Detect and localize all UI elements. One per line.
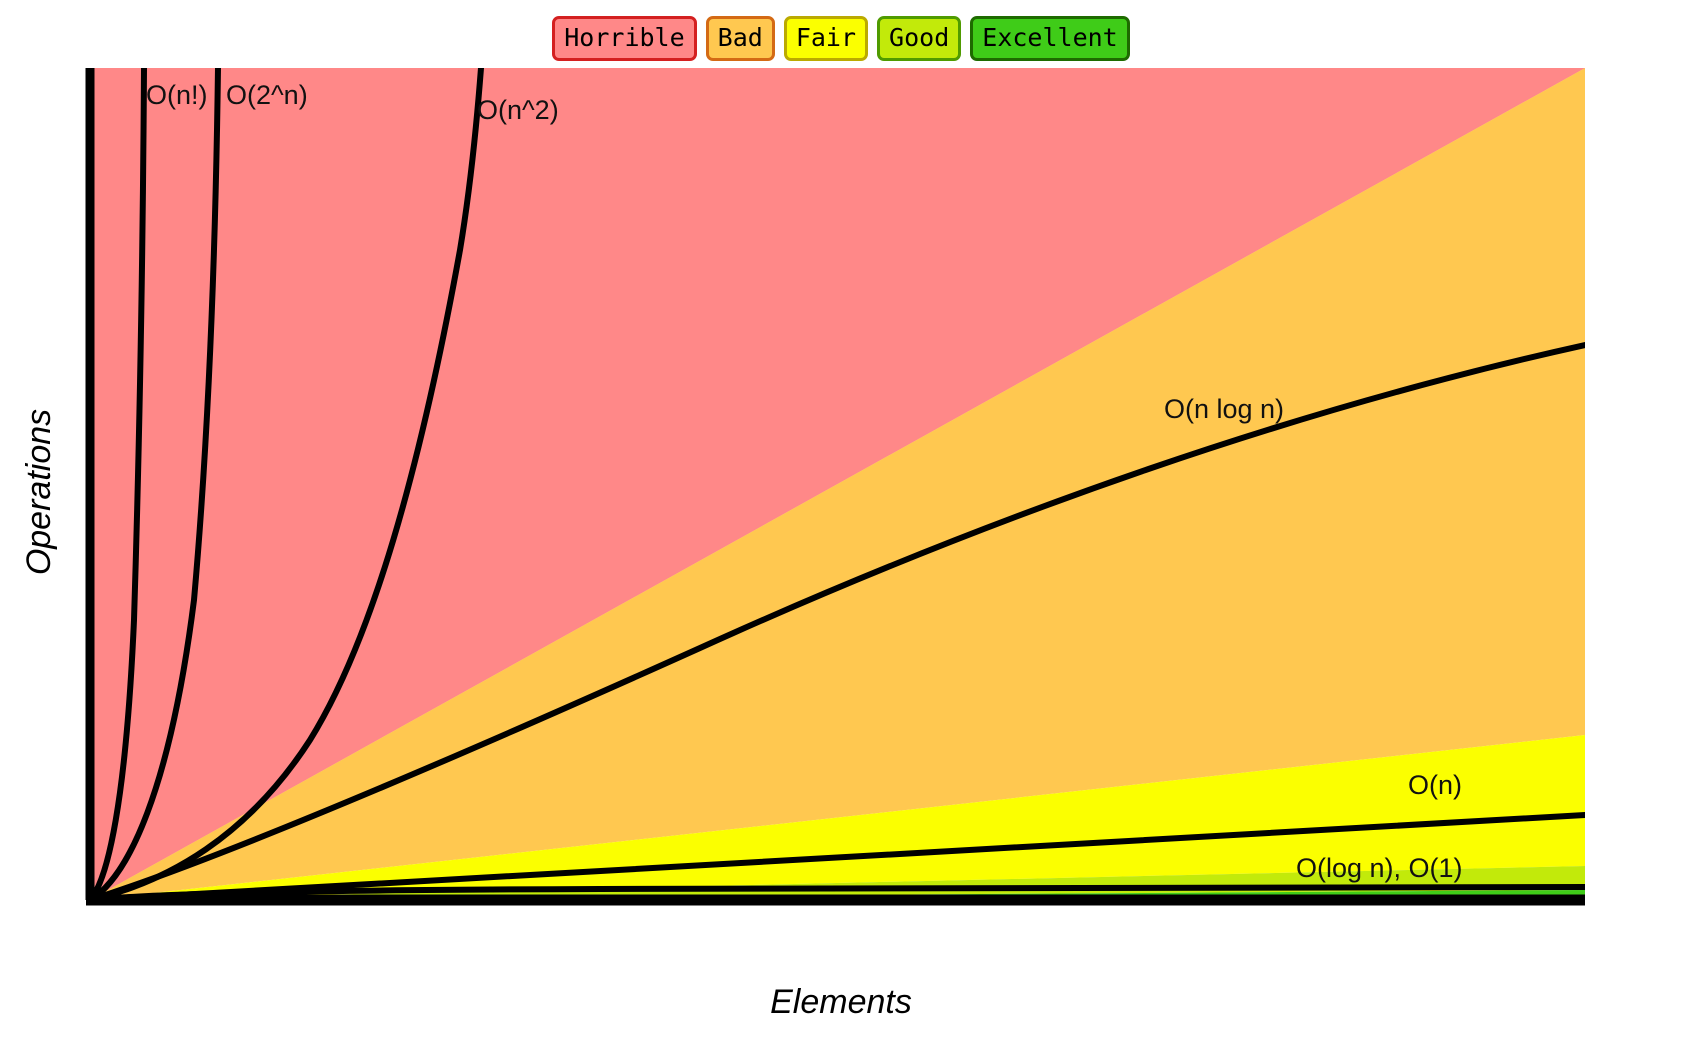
plot-surface: [0, 0, 1682, 1044]
curve-label-factorial: O(n!): [146, 82, 208, 109]
y-axis-title-wrap: Operations: [0, 0, 80, 1044]
complexity-bands: [90, 68, 1585, 900]
curve-label-linear: O(n): [1408, 772, 1462, 799]
curve-label-exponential: O(2^n): [226, 82, 308, 109]
x-axis-title: Elements: [0, 985, 1682, 1019]
y-axis-title: Operations: [22, 392, 56, 592]
curve-label-logarithmic-constant: O(log n), O(1): [1296, 855, 1463, 882]
big-o-complexity-chart: Horrible Bad Fair Good Excellent: [0, 0, 1682, 1044]
curve-label-quadratic: O(n^2): [477, 97, 559, 124]
curve-label-linearithmic: O(n log n): [1164, 396, 1284, 423]
